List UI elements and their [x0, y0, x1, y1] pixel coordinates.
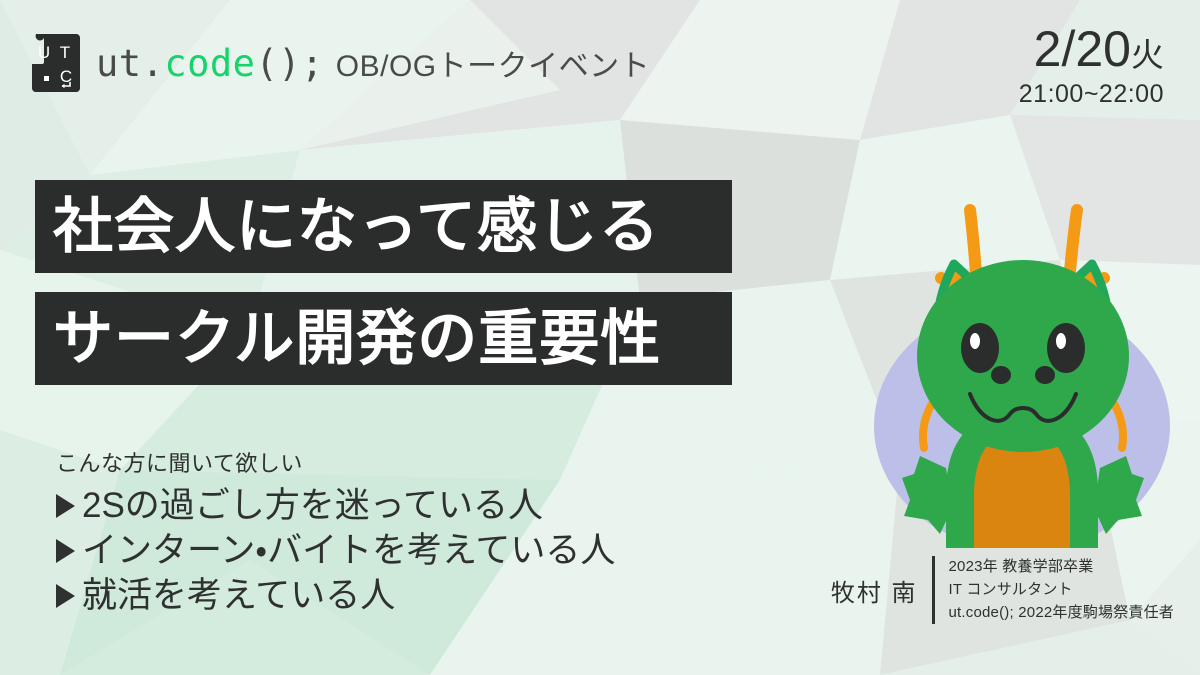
event-date-day: 2/20 [1034, 21, 1131, 77]
triangle-bullet-icon [56, 494, 75, 518]
event-kind-label: OB/OGトークイベント [336, 41, 650, 85]
event-poster: U T C ut.code(); OB/OGトークイベント 2/20火 21:0… [0, 0, 1200, 675]
triangle-bullet-icon [56, 584, 75, 608]
svg-text:T: T [60, 43, 70, 62]
speaker-name: 牧村 南 [831, 573, 932, 608]
event-time: 21:00~22:00 [1019, 79, 1164, 110]
speaker-detail-line: ut.code(); 2022年度駒場祭責任者 [949, 602, 1175, 625]
speaker-details: 2023年 教養学部卒業 IT コンサルタント ut.code(); 2022年… [935, 556, 1175, 624]
green-dragon-mascot-illustration [858, 148, 1188, 548]
speaker-detail-line: IT コンサルタント [949, 579, 1175, 602]
title-line2: サークル開発の重要性 [53, 309, 661, 369]
speaker-detail-line: 2023年 教養学部卒業 [949, 556, 1175, 579]
date-block: 2/20火 21:00~22:00 [1019, 24, 1164, 110]
list-item: 2Sの過ごし方を迷っている人 [56, 484, 615, 529]
brand-wordmark: ut.code(); OB/OGトークイベント [96, 41, 650, 85]
wordmark-suffix: (); [255, 42, 323, 85]
utcode-logo-icon: U T C [30, 32, 82, 94]
speaker-credit: 牧村 南 2023年 教養学部卒業 IT コンサルタント ut.code(); … [831, 556, 1174, 624]
brand-header: U T C ut.code(); OB/OGトークイベント [30, 32, 650, 94]
wordmark-accent: code [164, 42, 255, 85]
title-line1: 社会人になって感じる [53, 197, 660, 257]
list-item: インターン・バイトを考えている人 [56, 529, 615, 574]
audience-item-label: 2Sの過ごし方を迷っている人 [82, 484, 543, 529]
audience-item-label: インターン・バイトを考えている人 [82, 529, 615, 574]
title-bar-line1: 社会人になって感じる [35, 180, 732, 273]
list-item: 就活を考えている人 [56, 574, 615, 619]
audience-item-label: 就活を考えている人 [82, 574, 395, 619]
audience-list: 2Sの過ごし方を迷っている人 インターン・バイトを考えている人 就活を考えている… [56, 484, 615, 618]
audience-label: こんな方に聞いて欲しい [56, 446, 303, 478]
svg-text:U: U [38, 43, 50, 62]
wordmark-prefix: ut. [96, 42, 164, 85]
event-date-weekday: 火 [1131, 36, 1164, 73]
title-bar-line2: サークル開発の重要性 [35, 292, 732, 385]
triangle-bullet-icon [56, 539, 75, 563]
event-date: 2/20火 [1019, 24, 1164, 75]
